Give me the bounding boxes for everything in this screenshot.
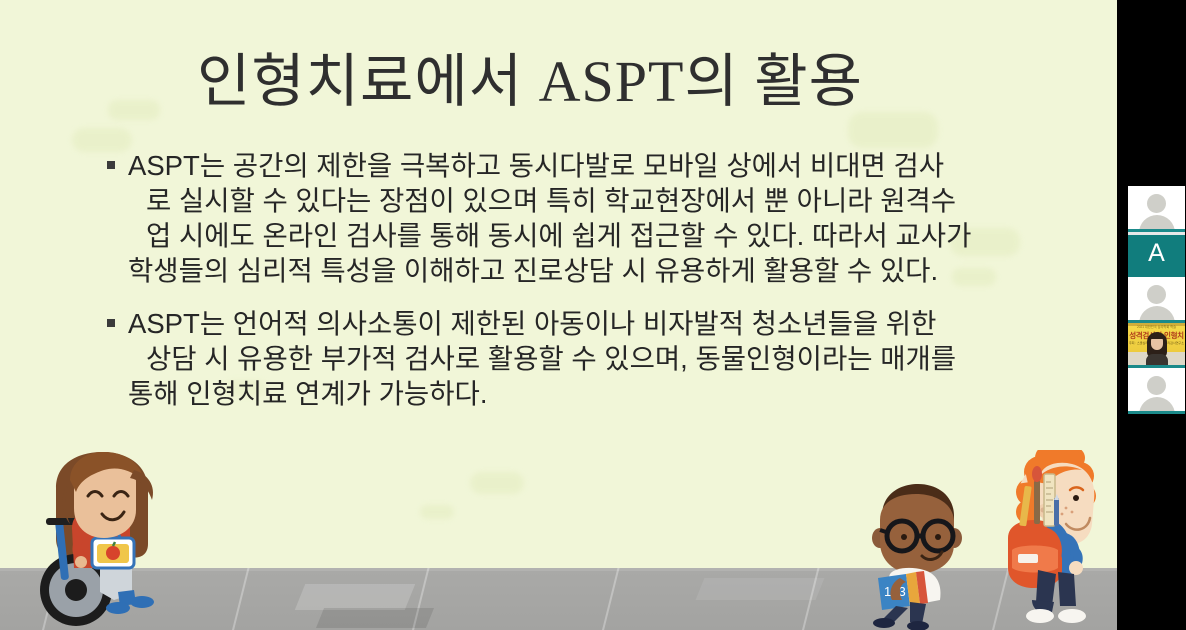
bullet-line: 상담 시 유용한 부가적 검사로 활용할 수 있으며, 동물인형이라는 매개를: [128, 341, 1049, 376]
participant-tile-3[interactable]: [1128, 277, 1185, 323]
background-blob-icon: [470, 472, 524, 494]
participant-tile-1[interactable]: [1128, 186, 1185, 232]
speaker-webcam-figure: [1146, 332, 1168, 366]
boy-with-backpack-illustration: [988, 450, 1106, 630]
bullet-line: 학생들의 심리적 특성을 이해하고 진로상담 시 유용하게 활용할 수 있다.: [128, 253, 1049, 288]
background-blob-icon: [420, 505, 454, 519]
screen-sharing-view: 인형치료에서 ASPT의 활용 ASPT는 공간의 제한을 극복하고 동시다발로…: [0, 0, 1186, 630]
square-bullet-icon: [107, 319, 115, 327]
boy-with-books-illustration: 123: [866, 482, 971, 630]
square-bullet-icon: [107, 161, 115, 169]
participant-tile-5[interactable]: [1128, 368, 1185, 414]
participant-video-strip[interactable]: A 2021 대한민국 심리학회 학술 성격검사와 인형치 주최 : 스쿨심리 …: [1117, 0, 1186, 630]
bullet-line: 통해 인형치료 연계가 가능하다.: [128, 376, 1049, 411]
bullet-lines: ASPT는 공간의 제한을 극복하고 동시다발로 모바일 상에서 비대면 검사 …: [128, 148, 1049, 288]
user-avatar-icon: [1147, 376, 1166, 395]
tile-top-strip: [1128, 232, 1185, 235]
background-blob-icon: [848, 112, 938, 148]
bullet-line: ASPT는 공간의 제한을 극복하고 동시다발로 모바일 상에서 비대면 검사: [128, 148, 1049, 183]
girl-in-wheelchair-illustration: [22, 452, 182, 630]
bullet-line: 업 시에도 온라인 검사를 통해 동시에 쉽게 접근할 수 있다. 따라서 교사…: [128, 218, 1049, 253]
bullet-lines: ASPT는 언어적 의사소통이 제한된 아동이나 비자발적 청소년들을 위한 상…: [128, 306, 1049, 411]
slide-title: 인형치료에서 ASPT의 활용: [0, 52, 1060, 113]
participant-tile-4-active-speaker[interactable]: 2021 대한민국 심리학회 학술 성격검사와 인형치 주최 : 스쿨심리 주관…: [1128, 323, 1185, 369]
tile-accent-bar: [1128, 411, 1185, 414]
bullet-line: 로 실시할 수 있다는 장점이 있으며 특히 학교현장에서 뿐 아니라 원격수: [128, 183, 1049, 218]
bullet-block: ASPT는 언어적 의사소통이 제한된 아동이나 비자발적 청소년들을 위한 상…: [104, 306, 1049, 411]
user-avatar-icon: [1147, 285, 1166, 304]
participant-initial: A: [1128, 239, 1185, 268]
event-banner-top-text: 2021 대한민국 심리학회 학술: [1128, 324, 1185, 329]
bangs-shape: [1150, 334, 1164, 339]
slide-body: ASPT는 공간의 제한을 극복하고 동시다발로 모바일 상에서 비대면 검사 …: [104, 148, 1049, 429]
shared-presentation-slide[interactable]: 인형치료에서 ASPT의 활용 ASPT는 공간의 제한을 극복하고 동시다발로…: [0, 0, 1117, 630]
participant-tile-list: A 2021 대한민국 심리학회 학술 성격검사와 인형치 주최 : 스쿨심리 …: [1128, 186, 1185, 414]
bullet-block: ASPT는 공간의 제한을 극복하고 동시다발로 모바일 상에서 비대면 검사 …: [104, 148, 1049, 288]
participant-tile-2[interactable]: A: [1128, 232, 1185, 278]
user-avatar-icon: [1147, 194, 1166, 213]
bullet-line: ASPT는 언어적 의사소통이 제한된 아동이나 비자발적 청소년들을 위한: [128, 306, 1049, 341]
